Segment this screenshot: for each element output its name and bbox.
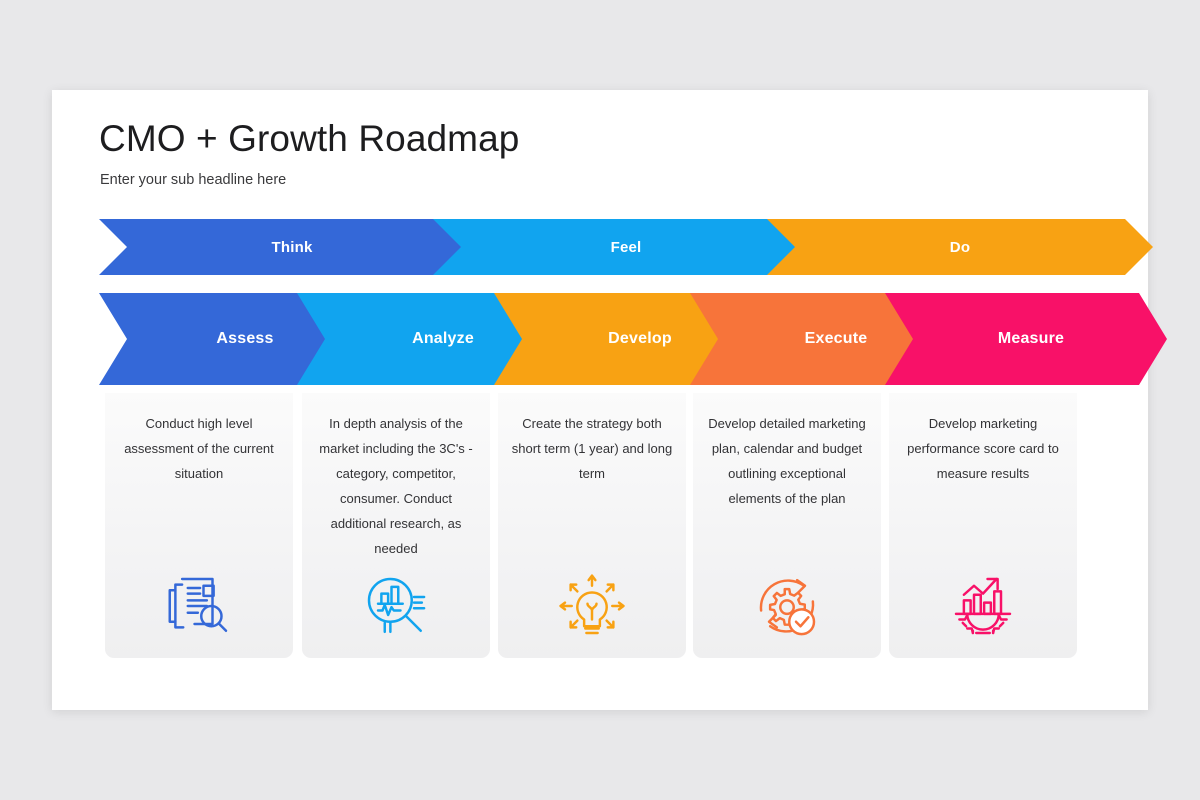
stage-card-text: Create the strategy both short term (1 y… (508, 411, 676, 486)
lightbulb-idea-icon (554, 568, 630, 644)
slide-canvas: CMO + Growth Roadmap Enter your sub head… (52, 90, 1148, 710)
stage-chevron-label: Develop (608, 330, 672, 348)
stage-card-measure: Develop marketing performance score card… (889, 393, 1077, 658)
stage-card-develop: Create the strategy both short term (1 y… (498, 393, 686, 658)
stage-card-assess: Conduct high level assessment of the cur… (105, 393, 293, 658)
page-subtitle: Enter your sub headline here (100, 172, 286, 188)
stage-card-text: Develop detailed marketing plan, calenda… (703, 411, 871, 511)
stage-card-text: Conduct high level assessment of the cur… (115, 411, 283, 486)
page-title: CMO + Growth Roadmap (99, 118, 519, 160)
magnifier-bar-chart-icon (358, 568, 434, 644)
document-search-icon (161, 568, 237, 644)
growth-chart-gear-icon (945, 568, 1021, 644)
stage-card-text: In depth analysis of the market includin… (312, 411, 480, 561)
stage-card-text: Develop marketing performance score card… (899, 411, 1067, 486)
phase-chevron-feel[interactable]: Feel (433, 219, 819, 275)
stage-chevron-label: Analyze (412, 330, 474, 348)
phase-chevron-label: Feel (611, 239, 642, 256)
stage-chevron-label: Execute (805, 330, 868, 348)
phase-chevron-label: Do (950, 239, 970, 256)
stage-chevron-label: Assess (216, 330, 273, 348)
stage-chevron-label: Measure (998, 330, 1064, 348)
phase-chevron-label: Think (272, 239, 313, 256)
stage-card-execute: Develop detailed marketing plan, calenda… (693, 393, 881, 658)
phase-chevron-think[interactable]: Think (99, 219, 485, 275)
gear-refresh-check-icon (749, 568, 825, 644)
stage-card-analyze: In depth analysis of the market includin… (302, 393, 490, 658)
stage-chevron-measure[interactable]: Measure (885, 293, 1167, 385)
phase-chevron-do[interactable]: Do (767, 219, 1153, 275)
